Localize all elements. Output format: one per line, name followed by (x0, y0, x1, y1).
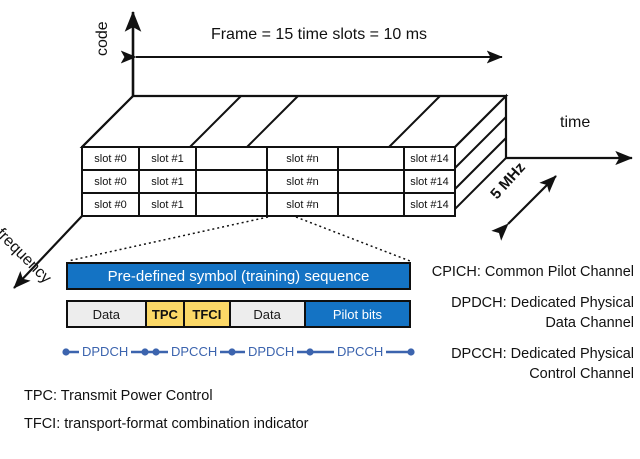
slot-field-tpc: TPC (145, 302, 184, 326)
slot-field-data: Data (68, 302, 145, 326)
slot-cell: slot #14 (405, 194, 454, 215)
abbreviations-right: CPICH: Common Pilot ChannelDPDCH: Dedica… (420, 263, 634, 396)
code-axis-label: code (95, 21, 111, 56)
channel-span-dpcch: DPCCH (334, 344, 386, 359)
slot-cell: slot #n (268, 194, 337, 215)
slot-cell: slot #0 (83, 171, 138, 192)
time-axis-label: time (560, 115, 590, 131)
slot-fields-bar: DataTPCTFCIDataPilot bits (66, 300, 411, 328)
channel-span-dpdch: DPDCH (245, 344, 297, 359)
slot-cell-gap (197, 194, 266, 215)
slot-cell: slot #0 (83, 148, 138, 169)
slot-cell-gap (339, 194, 403, 215)
abbreviation-entry: TFCI: transport-format combination indic… (24, 416, 308, 432)
slot-cell: slot #1 (140, 194, 195, 215)
slot-cell: slot #14 (405, 171, 454, 192)
slot-cell: slot #0 (83, 194, 138, 215)
channel-span-dpcch: DPCCH (168, 344, 220, 359)
slot-cell: slot #1 (140, 171, 195, 192)
abbreviation-entry: DPCCH: Dedicated Physical Control Channe… (420, 345, 634, 384)
slot-cell: slot #14 (405, 148, 454, 169)
slot-cell-gap (339, 148, 403, 169)
channel-span-dpdch: DPDCH (79, 344, 131, 359)
diagram-canvas: code frequency time 5 MHz Frame = 15 tim… (0, 0, 640, 459)
slot-field-data: Data (229, 302, 304, 326)
abbreviation-entry: DPDCH: Dedicated Physical Data Channel (420, 294, 634, 333)
slot-field-tfci: TFCI (183, 302, 228, 326)
slot-cell-gap (197, 171, 266, 192)
frame-caption: Frame = 15 time slots = 10 ms (133, 27, 505, 43)
slot-cell: slot #n (268, 171, 337, 192)
slot-cell-gap (197, 148, 266, 169)
training-sequence-bar: Pre-defined symbol (training) sequence (66, 262, 411, 290)
slot-callout-lines (68, 217, 410, 261)
slot-cell: slot #n (268, 148, 337, 169)
abbreviation-entry: TPC: Transmit Power Control (24, 388, 213, 404)
abbreviation-entry: CPICH: Common Pilot Channel (420, 263, 634, 282)
slot-cell-gap (339, 171, 403, 192)
slot-field-pilot: Pilot bits (304, 302, 409, 326)
slot-cell: slot #1 (140, 148, 195, 169)
